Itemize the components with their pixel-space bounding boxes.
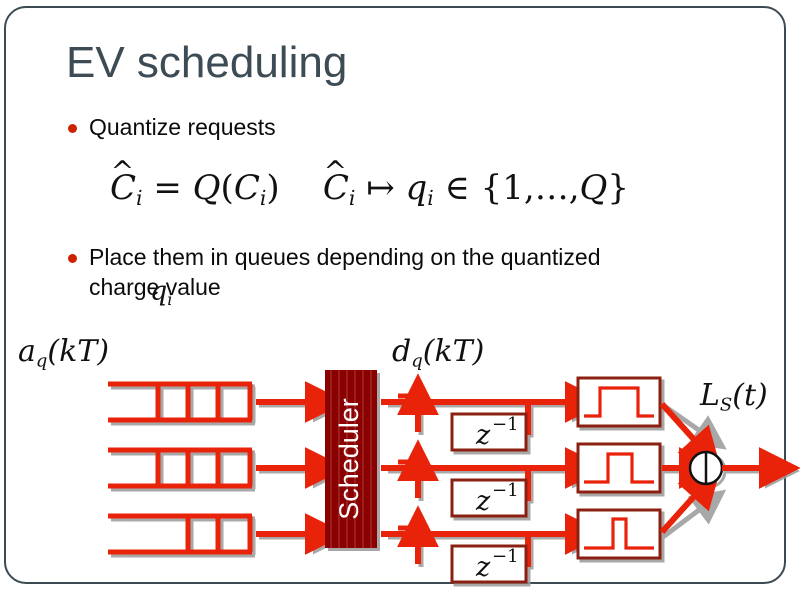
- bullet-item-1: Quantize requests: [68, 113, 276, 143]
- bullet-label-1: Quantize requests: [89, 113, 276, 143]
- delay-block-2-base: z: [475, 486, 491, 517]
- equation-set-last: Q: [580, 168, 608, 208]
- equation-set-dots: ,…,: [524, 168, 580, 208]
- diagram-canvas: Scheduler z −1: [0, 322, 800, 594]
- equation-arg-symbol: C: [234, 168, 260, 208]
- equation-map-lhs-sub: i: [349, 186, 356, 210]
- equation-equals: =: [153, 168, 182, 208]
- overlay-math-symbol: qi: [150, 276, 172, 309]
- equation-quantizer: Q: [193, 168, 221, 208]
- equation-set-close: }: [607, 168, 629, 208]
- pulse-narrow-rect[interactable]: [578, 510, 660, 558]
- equation-set-first: 1: [502, 168, 524, 208]
- summing-junction[interactable]: [690, 452, 722, 484]
- scheduler-block[interactable]: Scheduler: [325, 370, 377, 548]
- equation-map-lhs: ^C: [323, 168, 349, 208]
- pulse-wide[interactable]: [578, 378, 660, 426]
- hat-accent-icon-2: ^: [324, 155, 347, 188]
- delay-block-3-base: z: [475, 552, 491, 583]
- overlay-symbol-base: q: [150, 276, 167, 307]
- delay-block-1-base: z: [475, 420, 491, 451]
- bullet-item-2: Place them in queues depending on the qu…: [68, 243, 608, 303]
- scheduler-label: Scheduler: [334, 398, 364, 520]
- slide: EV scheduling Quantize requests ^Ci = Q(…: [0, 0, 800, 599]
- equation-close-paren: ): [266, 168, 279, 208]
- overlay-symbol-sub: i: [167, 290, 172, 309]
- pulse-wide-rect[interactable]: [578, 378, 660, 426]
- delay-block-1-exponent: −1: [492, 414, 519, 435]
- hat-accent-icon: ^: [111, 155, 134, 188]
- element-of-icon: ∈: [445, 168, 470, 208]
- equation-q-sub: i: [427, 186, 434, 210]
- equation: ^Ci = Q(Ci) ^Ci ↦ qi ∈ {1,…,Q}: [110, 168, 629, 210]
- equation-lhs: ^C: [110, 168, 136, 208]
- equation-set-open: {: [481, 168, 503, 208]
- bullet-dot-icon: [68, 124, 77, 133]
- delay-block-2-exponent: −1: [492, 480, 519, 501]
- equation-q-symbol: q: [406, 168, 428, 208]
- bullet-dot-icon-2: [68, 254, 77, 263]
- pulse-narrow[interactable]: [578, 510, 660, 558]
- block-diagram: aq(kT) dq(kT) LS(t): [0, 322, 800, 594]
- pulse-medium[interactable]: [578, 444, 660, 492]
- page-title: EV scheduling: [66, 38, 347, 88]
- delay-block-3-exponent: −1: [492, 546, 519, 567]
- equation-lhs-sub: i: [136, 186, 143, 210]
- pulse-medium-rect[interactable]: [578, 444, 660, 492]
- maps-to-icon: ↦: [366, 168, 395, 208]
- equation-open-paren: (: [221, 168, 234, 208]
